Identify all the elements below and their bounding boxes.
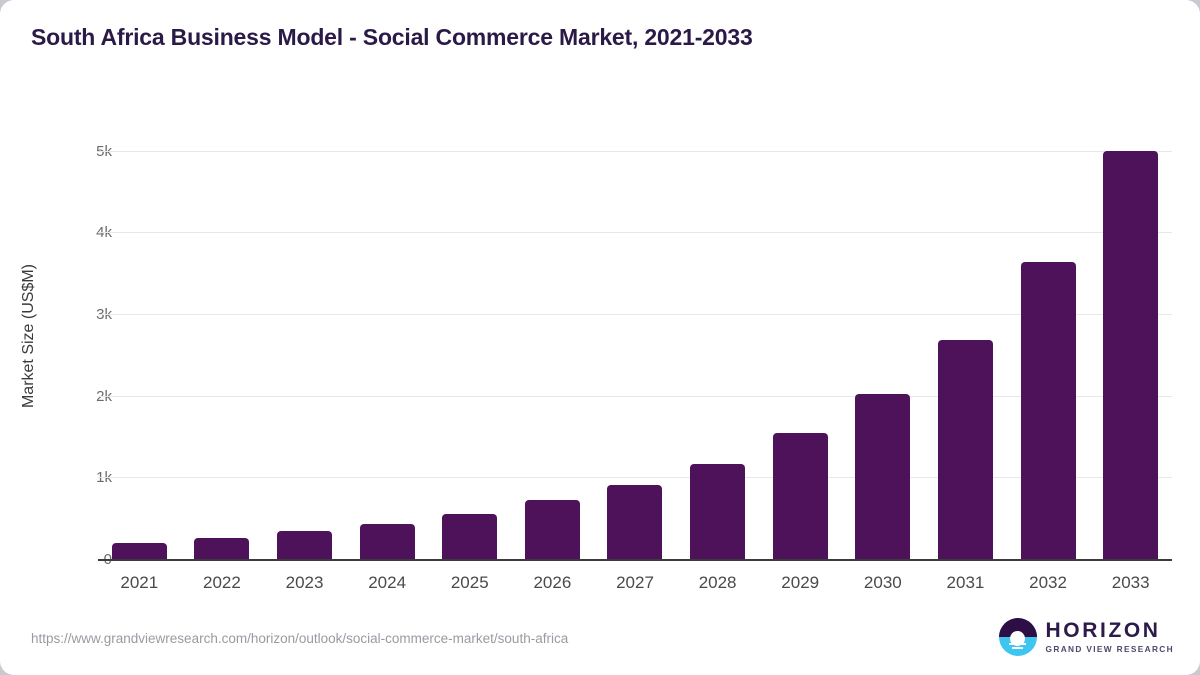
bar-column[interactable]	[346, 111, 429, 560]
bar[interactable]	[938, 340, 993, 560]
bar-series	[98, 111, 1172, 560]
logo-subtitle: GRAND VIEW RESEARCH	[1046, 645, 1174, 653]
bar-column[interactable]	[428, 111, 511, 560]
x-axis-tick-label: 2026	[507, 573, 597, 593]
x-axis-tick-label: 2028	[673, 573, 763, 593]
axis-baseline	[98, 559, 1172, 561]
bar-column[interactable]	[98, 111, 181, 560]
x-axis-tick-label: 2023	[260, 573, 350, 593]
bar-column[interactable]	[676, 111, 759, 560]
bar[interactable]	[773, 433, 828, 560]
bar-column[interactable]	[511, 111, 594, 560]
bar[interactable]	[442, 514, 497, 560]
bar-column[interactable]	[1089, 111, 1172, 560]
x-axis-tick-label: 2021	[94, 573, 184, 593]
bar-column[interactable]	[841, 111, 924, 560]
x-axis-tick-label: 2024	[342, 573, 432, 593]
bar[interactable]	[1103, 151, 1158, 560]
x-axis-tick-label: 2032	[1003, 573, 1093, 593]
bar-column[interactable]	[594, 111, 677, 560]
x-axis-tick-label: 2022	[177, 573, 267, 593]
bar[interactable]	[855, 394, 910, 560]
sun-ray-icon	[1009, 643, 1026, 645]
x-axis-tick-label: 2030	[838, 573, 928, 593]
source-url[interactable]: https://www.grandviewresearch.com/horizo…	[31, 631, 568, 646]
x-axis-tick-label: 2031	[920, 573, 1010, 593]
x-axis-tick-label: 2033	[1086, 573, 1176, 593]
bar[interactable]	[607, 485, 662, 560]
bar[interactable]	[194, 538, 249, 560]
bar[interactable]	[690, 464, 745, 560]
x-axis-tick-label: 2027	[590, 573, 680, 593]
bar-column[interactable]	[924, 111, 1007, 560]
logo-text: HORIZON GRAND VIEW RESEARCH	[1046, 620, 1174, 653]
bar[interactable]	[277, 531, 332, 560]
page-title: South Africa Business Model - Social Com…	[31, 24, 753, 51]
y-axis-label-text: Market Size (US$M)	[20, 263, 38, 407]
chart-page: South Africa Business Model - Social Com…	[0, 0, 1200, 675]
bar-column[interactable]	[181, 111, 264, 560]
x-axis-tick-label: 2025	[425, 573, 515, 593]
sun-ray-icon	[1012, 647, 1023, 649]
horizon-logo: HORIZON GRAND VIEW RESEARCH	[999, 618, 1174, 656]
logo-title: HORIZON	[1046, 620, 1174, 641]
horizon-logo-icon	[999, 618, 1037, 656]
bar-column[interactable]	[1007, 111, 1090, 560]
bar[interactable]	[1021, 262, 1076, 560]
bar-column[interactable]	[759, 111, 842, 560]
x-axis-tick-label: 2029	[755, 573, 845, 593]
bar[interactable]	[112, 543, 167, 560]
bar[interactable]	[525, 500, 580, 560]
plot-area	[98, 111, 1172, 560]
y-axis-label: Market Size (US$M)	[18, 111, 40, 560]
bar[interactable]	[360, 524, 415, 560]
bar-column[interactable]	[263, 111, 346, 560]
